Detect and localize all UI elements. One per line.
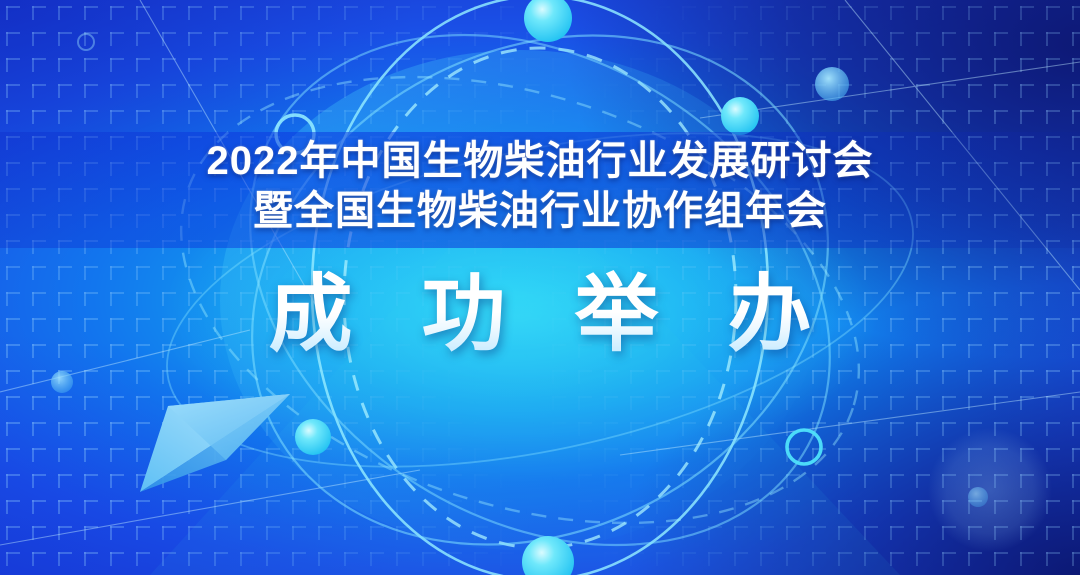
title-block: 2022年中国生物柴油行业发展研讨会 暨全国生物柴油行业协作组年会 xyxy=(0,136,1080,236)
sphere-soft-bottom-right xyxy=(968,487,988,507)
ring-outline-lower-right xyxy=(787,430,821,464)
soft-blob-circle xyxy=(928,428,1052,552)
headline-text: 成 功 举 办 xyxy=(244,268,835,364)
sphere-lower-left xyxy=(295,419,331,455)
sphere-soft-left xyxy=(51,371,73,393)
sphere-soft-top-right xyxy=(815,67,849,101)
ring-outline-corner xyxy=(78,34,94,50)
title-line-1: 2022年中国生物柴油行业发展研讨会 xyxy=(0,136,1080,186)
sphere-upper-right xyxy=(721,97,759,135)
headline-block: 成 功 举 办 xyxy=(0,268,1080,364)
poster-banner: 2022年中国生物柴油行业发展研讨会 暨全国生物柴油行业协作组年会 成 功 举 … xyxy=(0,0,1080,575)
title-line-2: 暨全国生物柴油行业协作组年会 xyxy=(0,186,1080,236)
